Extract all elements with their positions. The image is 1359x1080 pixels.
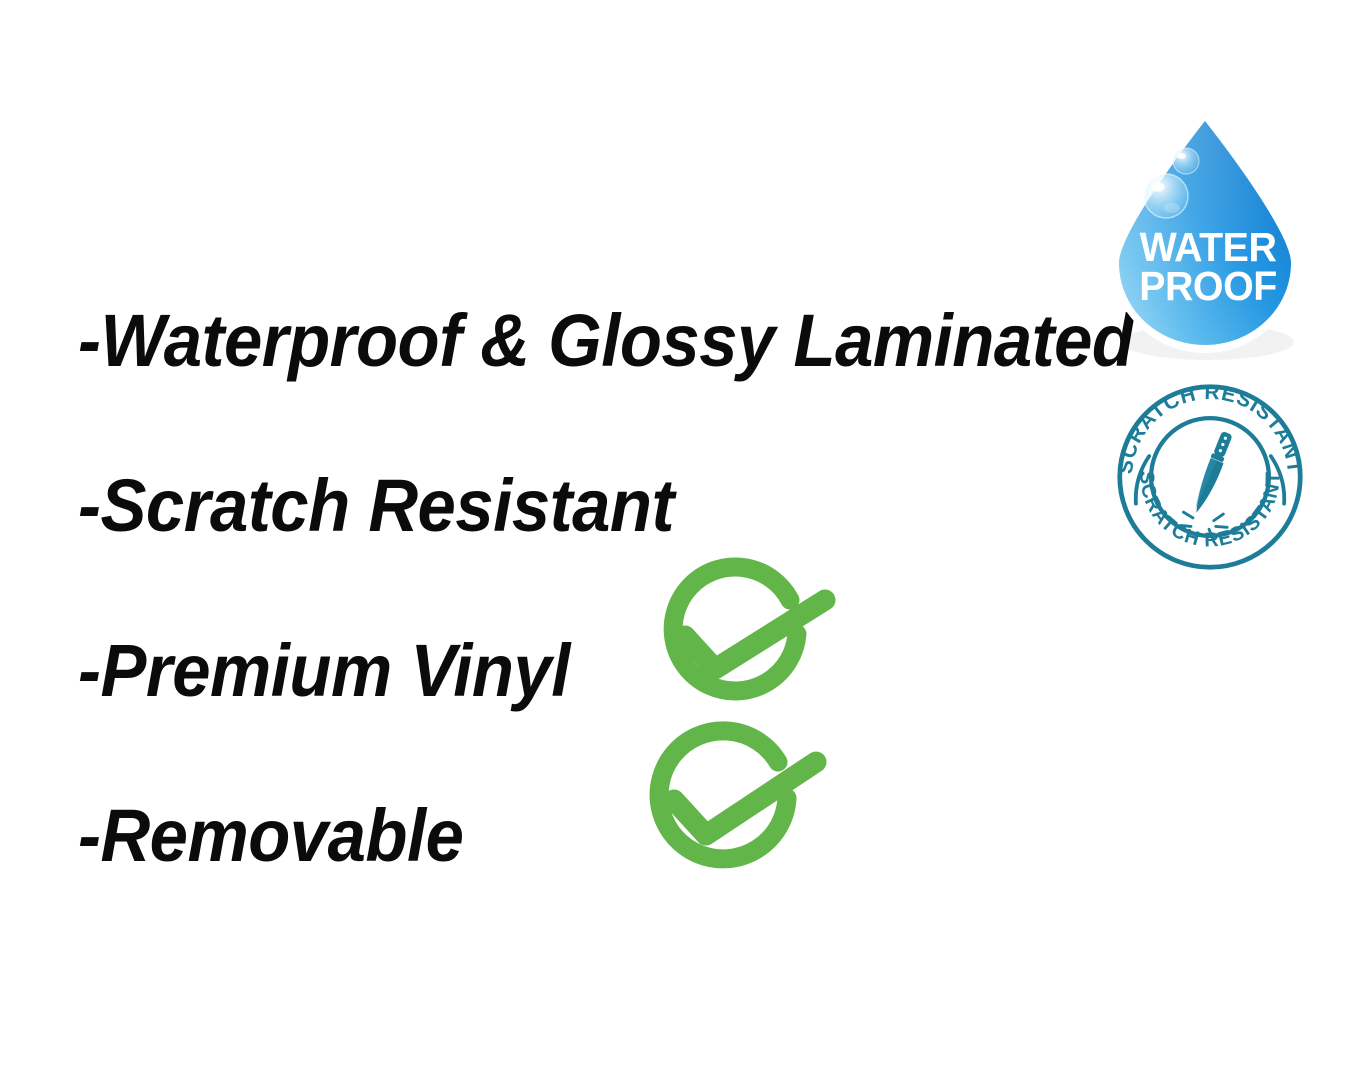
promo-feature-graphic: -Waterproof & Glossy Laminated -Scratch … bbox=[0, 0, 1359, 1080]
list-item: -Removable bbox=[78, 753, 1098, 918]
check-circle-icon-1 bbox=[636, 556, 836, 716]
feature-label-waterproof: -Waterproof & Glossy Laminated bbox=[78, 304, 1133, 378]
check-circle-icon-2 bbox=[626, 714, 830, 886]
feature-label-scratch-resistant: -Scratch Resistant bbox=[78, 469, 674, 543]
list-item: -Premium Vinyl bbox=[78, 588, 1098, 753]
check-circle-icon bbox=[636, 556, 836, 716]
check-circle-icon bbox=[626, 714, 830, 886]
waterproof-badge: WATER PROOF bbox=[1102, 104, 1314, 362]
feature-label-removable: -Removable bbox=[78, 799, 463, 873]
list-item: -Waterproof & Glossy Laminated bbox=[78, 258, 1098, 423]
water-drop-icon bbox=[1102, 104, 1314, 362]
feature-list: -Waterproof & Glossy Laminated -Scratch … bbox=[78, 258, 1098, 918]
scratch-resistant-badge: SCRATCH RESISTANT SCRATCH RESISTANT bbox=[1112, 382, 1308, 572]
feature-label-premium-vinyl: -Premium Vinyl bbox=[78, 634, 570, 708]
list-item: -Scratch Resistant bbox=[78, 423, 1098, 588]
scratch-resistant-stamp-icon: SCRATCH RESISTANT SCRATCH RESISTANT bbox=[1112, 382, 1308, 572]
knife-icon bbox=[1189, 431, 1234, 516]
